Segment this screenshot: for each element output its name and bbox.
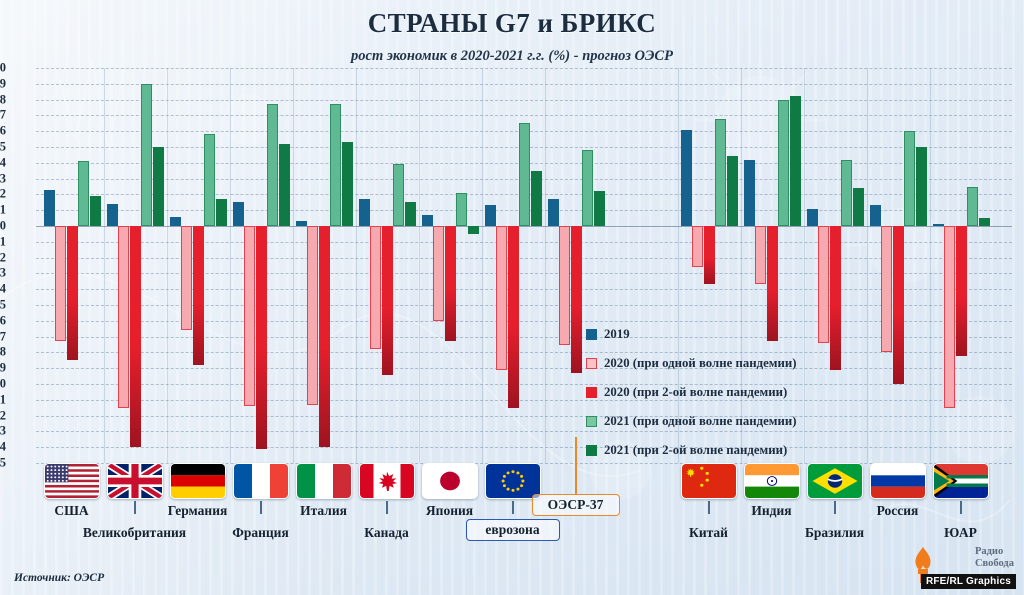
legend-item: 2020 (при одной волне пандемии) <box>586 349 796 378</box>
flag-us-icon <box>44 463 100 499</box>
y-axis-tick-label: 7 <box>0 108 6 123</box>
legend-swatch-s2019 <box>586 329 597 340</box>
bar <box>244 226 255 406</box>
x-axis-country-ca: Канада <box>359 463 415 499</box>
bar <box>78 161 89 226</box>
y-axis-tick-label: 6 <box>0 124 6 139</box>
bar <box>830 226 841 370</box>
x-axis-country-us: США <box>44 463 100 499</box>
flag-jp-icon <box>422 463 478 499</box>
bar <box>870 205 881 226</box>
bar <box>141 84 152 226</box>
flag-in-icon <box>744 463 800 499</box>
legend-swatch-s2021b <box>586 445 597 456</box>
bar <box>181 226 192 330</box>
bar <box>744 160 755 226</box>
graphics-credit: RFE/RL Graphics <box>921 574 1016 589</box>
bar <box>193 226 204 365</box>
flag-fr-icon <box>233 463 289 499</box>
bar <box>704 226 715 284</box>
x-axis-country-gb: Великобритания <box>107 463 163 499</box>
y-axis-tick-label: -12 <box>0 408 6 423</box>
y-axis-tick-label: -1 <box>0 234 6 249</box>
bar <box>692 226 703 267</box>
bar <box>681 130 692 226</box>
x-axis-label: ЮАР <box>866 525 1024 541</box>
bar <box>319 226 330 447</box>
bar <box>508 226 519 408</box>
flag-cn-icon <box>681 463 737 499</box>
x-axis-country-cn: Китай <box>681 463 737 499</box>
y-axis-tick-label: -13 <box>0 424 6 439</box>
bar <box>55 226 66 341</box>
y-axis-tick-label: 5 <box>0 140 6 155</box>
bar <box>956 226 967 356</box>
x-axis-label: Россия <box>803 503 993 519</box>
infographic-root: СТРАНЫ G7 и БРИКС рост экономик в 2020-2… <box>0 0 1024 595</box>
bar <box>330 104 341 226</box>
bar <box>531 171 542 226</box>
bar <box>519 123 530 226</box>
x-axis-label: Япония <box>355 503 545 519</box>
brand-line-1: Радио <box>975 546 1014 558</box>
bar <box>296 221 307 226</box>
legend-item: 2021 (при 2-ой волне пандемии) <box>586 436 796 465</box>
legend-label: 2021 (при 2-ой волне пандемии) <box>604 443 787 458</box>
bar <box>382 226 393 375</box>
source-note: Источник: ОЭСР <box>14 572 104 584</box>
y-axis-tick-label: 4 <box>0 155 6 170</box>
bar <box>807 209 818 226</box>
bar <box>559 226 570 345</box>
y-axis-tick-label: -5 <box>0 298 6 313</box>
bar <box>755 226 766 284</box>
axis-tick-stem <box>512 501 514 514</box>
bar <box>90 196 101 226</box>
bar <box>204 134 215 226</box>
y-axis-tick-label: -7 <box>0 329 6 344</box>
y-axis-tick-label: -8 <box>0 345 6 360</box>
x-axis-country-fr: Франция <box>233 463 289 499</box>
legend-swatch-s2021a <box>586 416 597 427</box>
y-axis-tick-label: 9 <box>0 76 6 91</box>
y-axis-tick-label: -9 <box>0 361 6 376</box>
x-axis-country-it: Италия <box>296 463 352 499</box>
legend-label: 2020 (при одной волне пандемии) <box>604 356 796 371</box>
y-axis-tick-label: 3 <box>0 171 6 186</box>
oecd-connector-line <box>575 437 577 494</box>
bar <box>130 226 141 447</box>
flag-ru-icon <box>870 463 926 499</box>
bar <box>267 104 278 226</box>
brand-text: Радио Свобода <box>975 546 1014 570</box>
bar <box>468 226 479 234</box>
bar <box>233 202 244 226</box>
x-axis-country-in: Индия <box>744 463 800 499</box>
y-axis-tick-label: -10 <box>0 377 6 392</box>
bar <box>778 100 789 226</box>
page-title: СТРАНЫ G7 и БРИКС <box>0 8 1024 39</box>
bar <box>279 144 290 226</box>
chart-plot-area: 109876543210-1-2-3-4-5-6-7-8-9-10-11-12-… <box>36 68 1012 463</box>
bar <box>916 147 927 226</box>
bar <box>727 156 738 226</box>
bar <box>67 226 78 360</box>
bar <box>933 224 944 226</box>
brand-logo: Радио Свобода RFE/RL Graphics <box>906 543 1016 589</box>
bar <box>433 226 444 321</box>
flag-za-icon <box>933 463 989 499</box>
page-subtitle: рост экономик в 2020-2021 г.г. (%) - про… <box>0 48 1024 65</box>
bar <box>405 202 416 226</box>
bar-series-container <box>36 68 1012 463</box>
flag-ca-icon <box>359 463 415 499</box>
bar <box>790 96 801 226</box>
y-axis-tick-label: -6 <box>0 313 6 328</box>
legend-label: 2020 (при 2-ой волне пандемии) <box>604 385 787 400</box>
x-axis-label-boxed: еврозона <box>466 519 560 541</box>
bar <box>170 217 181 226</box>
bar <box>548 199 559 226</box>
x-axis-label: Канада <box>292 525 482 541</box>
y-axis-tick-label: -14 <box>0 440 6 455</box>
flag-br-icon <box>807 463 863 499</box>
bar <box>370 226 381 349</box>
legend-label: 2021 (при одной волне пандемии) <box>604 414 796 429</box>
bar <box>422 215 433 226</box>
bar <box>881 226 892 352</box>
x-axis-country-br: Бразилия <box>807 463 863 499</box>
bar <box>216 199 227 226</box>
chart-legend: 20192020 (при одной волне пандемии)2020 … <box>586 320 796 465</box>
bar <box>571 226 582 373</box>
bar <box>818 226 829 343</box>
legend-item: 2019 <box>586 320 796 349</box>
flag-eu-icon <box>485 463 541 499</box>
y-axis-tick-label: 2 <box>0 187 6 202</box>
y-axis-tick-label: -11 <box>0 392 6 407</box>
flag-gb-icon <box>107 463 163 499</box>
bar <box>307 226 318 405</box>
y-axis-tick-label: 0 <box>0 219 6 234</box>
bar <box>582 150 593 226</box>
bar <box>256 226 267 449</box>
bar <box>485 205 496 226</box>
bar <box>393 164 404 226</box>
bar <box>44 190 55 226</box>
bar <box>118 226 129 408</box>
bar <box>445 226 456 341</box>
y-axis-tick-label: 8 <box>0 92 6 107</box>
bar <box>893 226 904 384</box>
legend-swatch-s2020a <box>586 358 597 369</box>
legend-swatch-s2020b <box>586 387 597 398</box>
bar <box>359 199 370 226</box>
x-axis-label-boxed: ОЭСР-37 <box>532 494 620 516</box>
x-axis-country-de: Германия <box>170 463 226 499</box>
flag-it-icon <box>296 463 352 499</box>
bar <box>979 218 990 226</box>
legend-label: 2019 <box>604 327 630 342</box>
y-axis-tick-label: -4 <box>0 282 6 297</box>
x-axis-country-za: ЮАР <box>933 463 989 499</box>
legend-item: 2020 (при 2-ой волне пандемии) <box>586 378 796 407</box>
y-axis-tick-label: 1 <box>0 203 6 218</box>
x-axis-country-eu: еврозона <box>485 463 541 499</box>
x-axis-country-labels: СШАВеликобританияГерманияФранцияИталияКа… <box>0 463 1024 548</box>
bar <box>456 193 467 226</box>
x-axis-country-ru: Россия <box>870 463 926 499</box>
bar <box>944 226 955 408</box>
bar <box>107 204 118 226</box>
flag-de-icon <box>170 463 226 499</box>
y-axis-tick-label: 10 <box>0 61 6 76</box>
bar <box>342 142 353 226</box>
bar <box>715 119 726 226</box>
y-axis-tick-label: -3 <box>0 266 6 281</box>
brand-line-2: Свобода <box>975 558 1014 570</box>
bar <box>967 187 978 227</box>
legend-item: 2021 (при одной волне пандемии) <box>586 407 796 436</box>
bar <box>153 147 164 226</box>
x-axis-country-jp: Япония <box>422 463 478 499</box>
bar <box>594 191 605 226</box>
bar <box>853 188 864 226</box>
y-axis-tick-label: -2 <box>0 250 6 265</box>
bar <box>841 160 852 226</box>
bar <box>904 131 915 226</box>
axis-tick-stem <box>960 501 962 514</box>
bar <box>496 226 507 370</box>
